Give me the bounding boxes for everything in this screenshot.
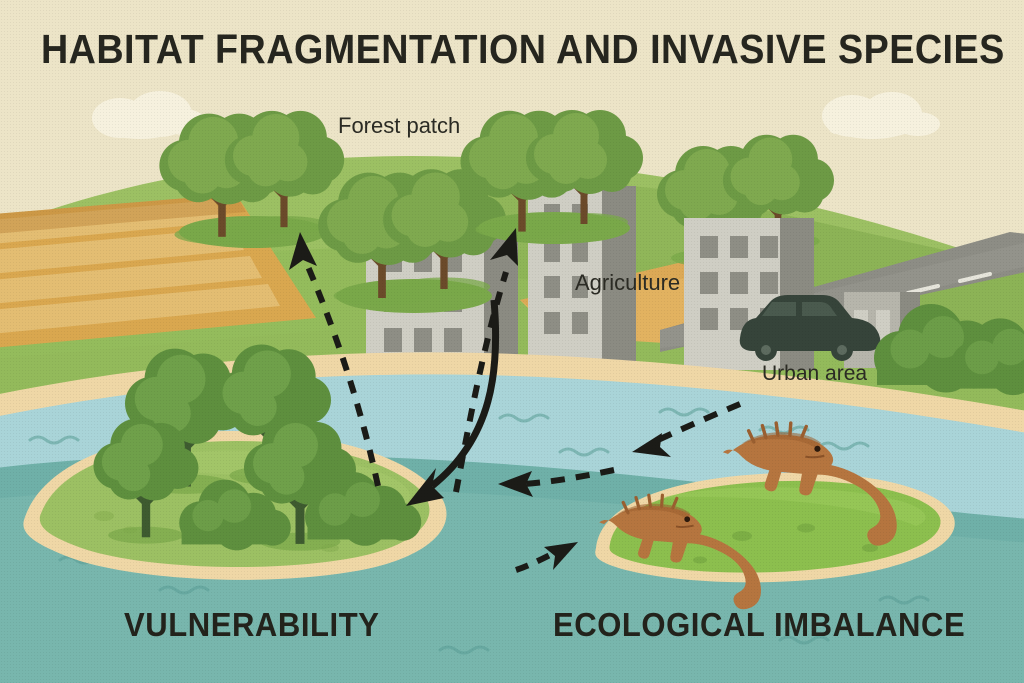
illustration-scene bbox=[0, 0, 1024, 683]
forest-patch-right bbox=[461, 110, 643, 244]
forest-patch-middle bbox=[318, 169, 506, 313]
page-title: HABITAT FRAGMENTATION AND INVASIVE SPECI… bbox=[41, 26, 983, 73]
infographic-canvas: HABITAT FRAGMENTATION AND INVASIVE SPECI… bbox=[0, 0, 1024, 683]
forest-patch-left bbox=[159, 111, 344, 248]
label-agriculture: Agriculture bbox=[575, 270, 680, 296]
label-urban-area: Urban area bbox=[762, 362, 867, 386]
label-ecological-imbalance: ECOLOGICAL IMBALANCE bbox=[553, 606, 965, 644]
label-forest-patch: Forest patch bbox=[338, 113, 460, 139]
label-vulnerability: VULNERABILITY bbox=[124, 606, 380, 644]
